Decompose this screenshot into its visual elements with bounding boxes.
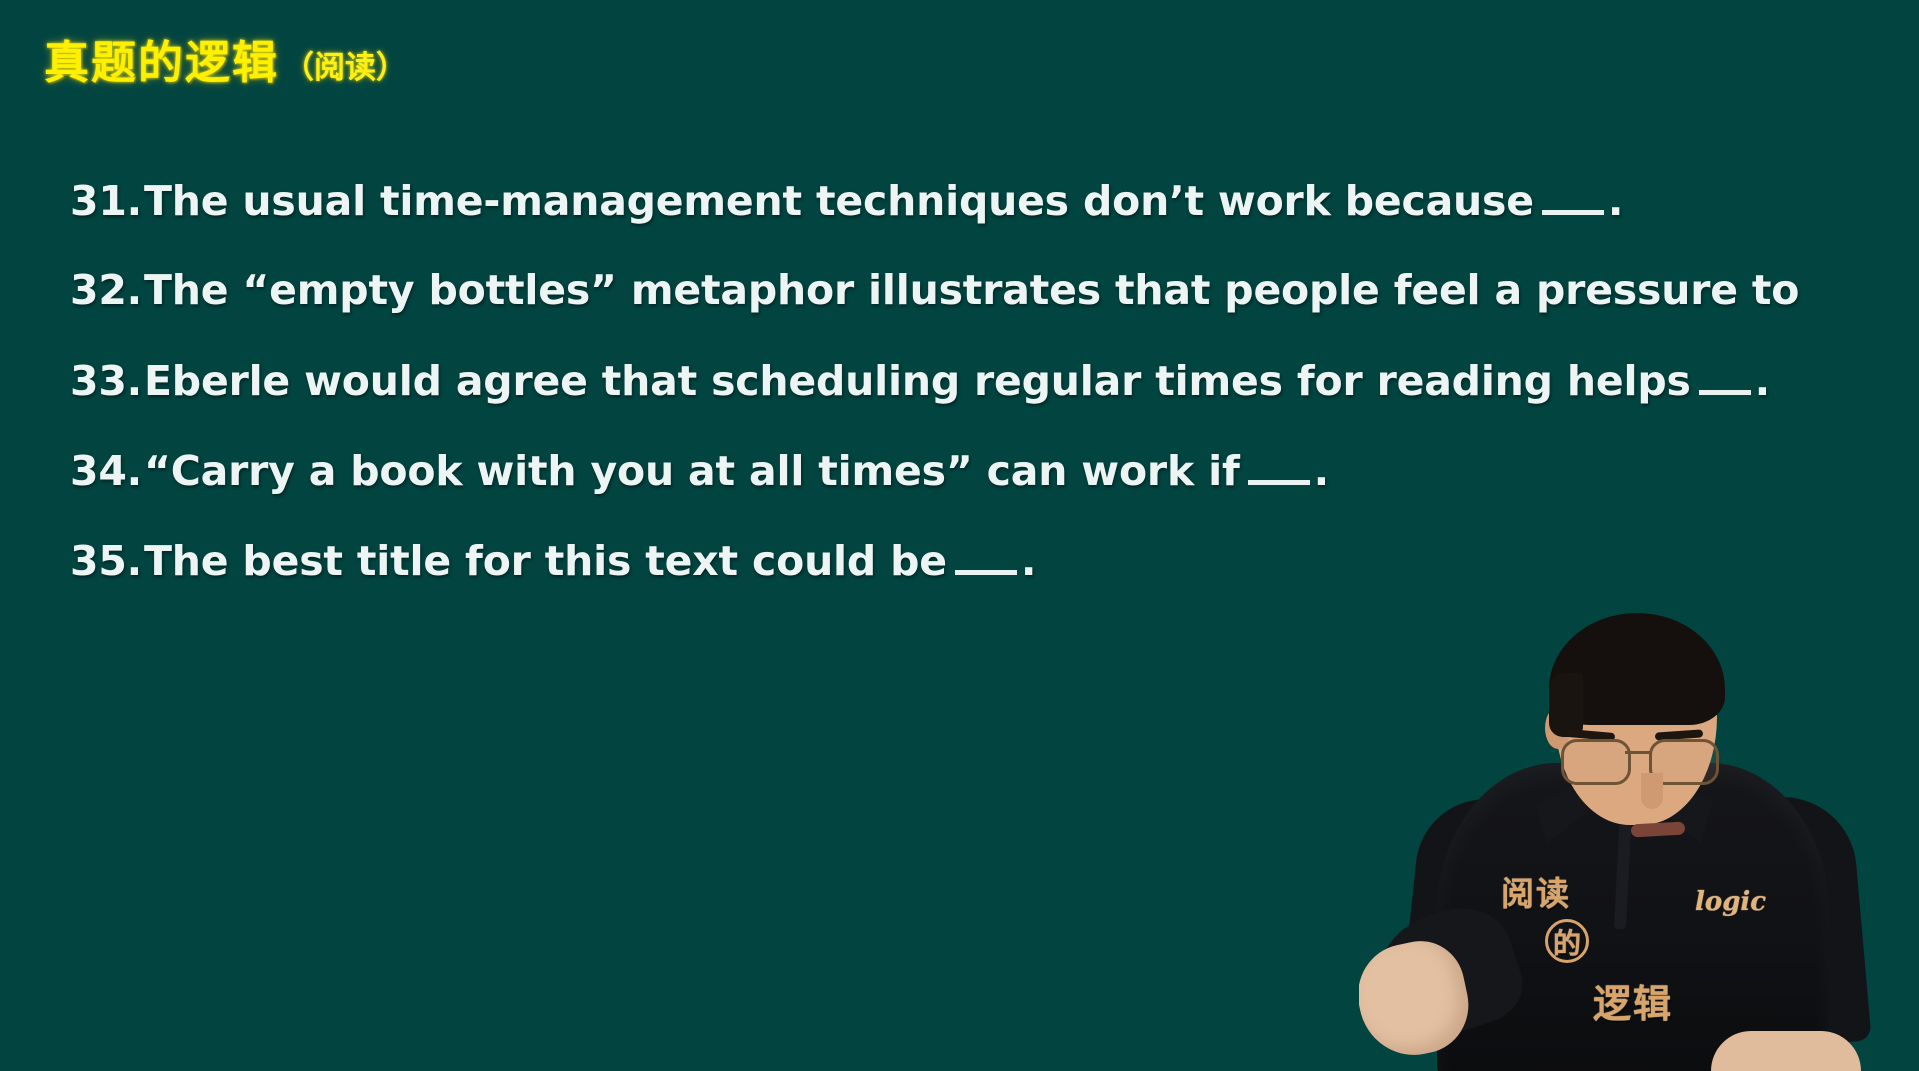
presenter-hair [1549,613,1725,725]
question-item: 34. “Carry a book with you at all times”… [70,446,1770,536]
presenter-eyebrow-right [1655,729,1703,740]
presenter-torso [1437,763,1829,1071]
presenter-hair-sideburn [1549,673,1583,737]
shirt-brand-text: logic [1695,887,1766,917]
question-list: 31. The usual time-management techniques… [70,176,1770,626]
presenter-forearm [1362,894,1532,1051]
question-text: The usual time-management techniques don… [144,177,1534,225]
question-number: 34. [70,447,144,495]
shirt-text-line3: 逻辑 [1593,973,1673,1028]
glasses-lens-right [1649,739,1719,785]
question-item: 31. The usual time-management techniques… [70,176,1770,266]
question-text-trailing: . [1314,447,1329,495]
answer-blank [955,536,1017,575]
question-item: 32. The “empty bottles” metaphor illustr… [70,266,1770,356]
question-text-trailing: . [1608,177,1623,225]
answer-blank [1542,176,1604,215]
page-subtitle: （阅读） [283,42,407,87]
answer-blank [1248,446,1310,485]
question-number: 32. [70,266,144,314]
presenter-collar-right [1627,769,1713,843]
glasses-bridge [1625,751,1651,754]
question-item: 33. Eberle would agree that scheduling r… [70,356,1770,446]
question-text-trailing: . [1755,357,1770,405]
question-item: 35. The best title for this text could b… [70,536,1770,626]
presenter-head [1555,625,1717,825]
shirt-text-line2: 的 [1545,919,1589,963]
question-number: 33. [70,357,144,405]
question-text: Eberle would agree that scheduling regul… [144,357,1691,405]
presenter-shoulder-right [1700,791,1871,1053]
presenter-hand [1359,933,1477,1065]
presenter-nose [1641,773,1663,809]
question-text-trailing: . [1021,537,1036,585]
question-number: 31. [70,177,144,225]
glasses-icon [1557,739,1721,781]
lecture-slide: 真题的逻辑 （阅读） 31. The usual time-management… [0,0,1919,1071]
presenter-neck [1573,743,1685,831]
answer-blank [1699,356,1751,395]
question-text: The “empty bottles” metaphor illustrates… [144,266,1799,314]
presenter-eyebrow-left [1567,729,1616,741]
presenter-hand-secondary [1711,1031,1861,1071]
shirt-graphic: 阅读 的 逻辑 logic [1499,867,1799,1047]
question-number: 35. [70,537,144,585]
presenter-collar-left [1535,769,1621,843]
page-title: 真题的逻辑 [44,26,279,91]
presenter-shoulder-left [1399,792,1562,1035]
question-text: “Carry a book with you at all times” can… [144,447,1240,495]
presenter-ear [1545,707,1571,749]
shirt-text-line1: 阅读 [1501,867,1571,915]
question-text: The best title for this text could be [144,537,947,585]
presenter-video-overlay: 阅读 的 逻辑 logic [1359,591,1919,1071]
glasses-lens-left [1561,739,1631,785]
presenter-shirt-placket [1614,809,1632,929]
slide-title: 真题的逻辑 （阅读） [44,26,407,91]
presenter-mouth [1631,822,1686,838]
